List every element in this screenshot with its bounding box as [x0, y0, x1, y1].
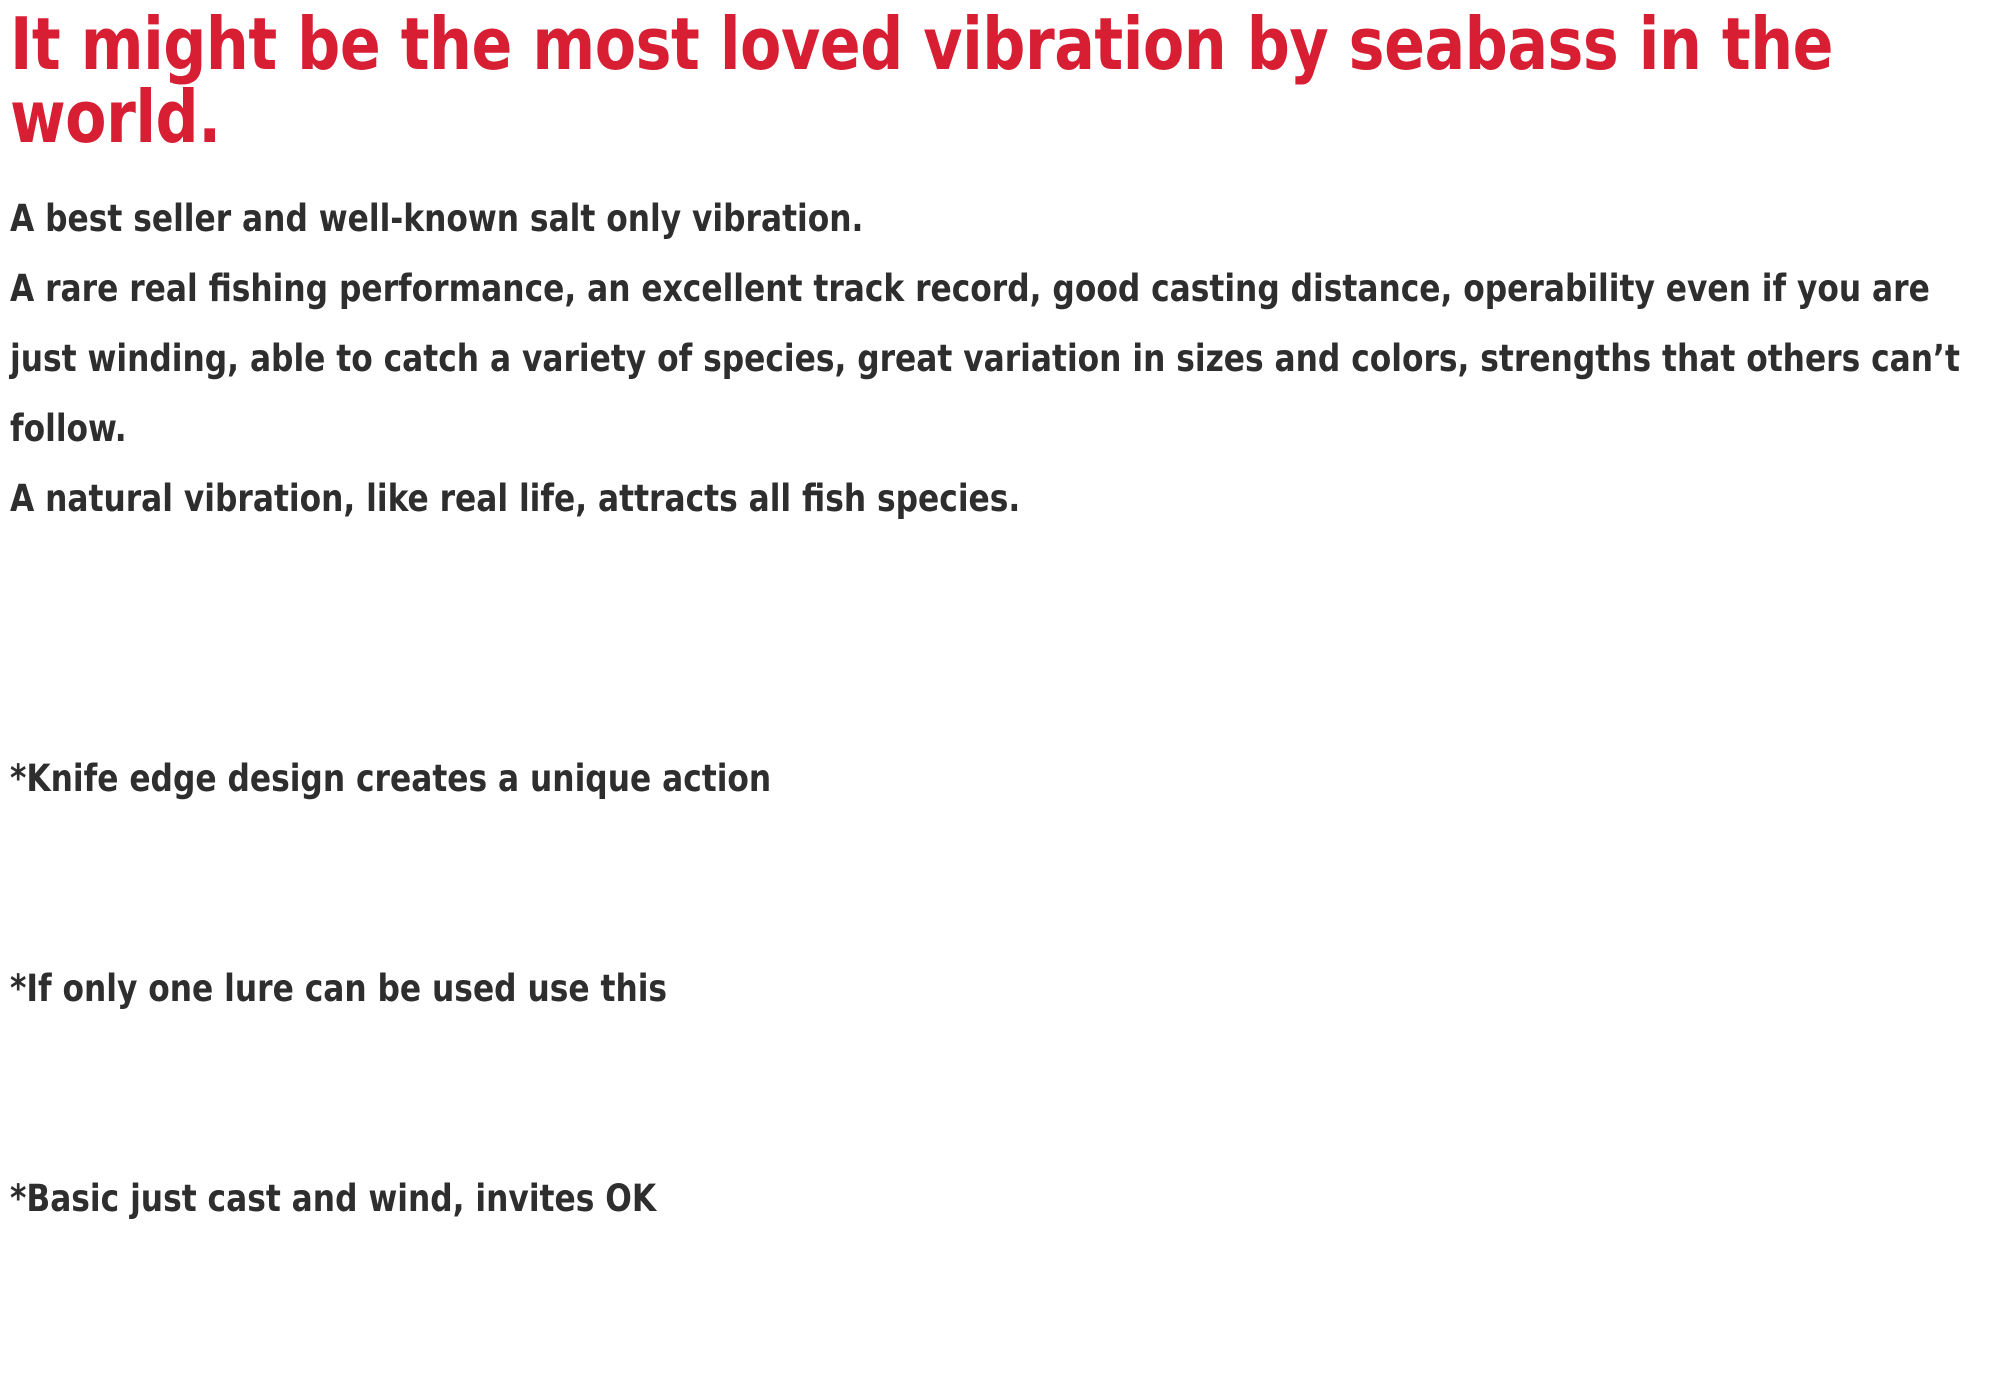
page-title: It might be the most loved vibration by … [10, 0, 2000, 154]
feature-bullet-item: *If only one lure can be used use this [10, 954, 2000, 1024]
paragraph-intro: A best seller and well-known salt only v… [10, 184, 2000, 254]
feature-bullet-item: *Knife edge design creates a unique acti… [10, 744, 2000, 814]
paragraph-natural: A natural vibration, like real life, att… [10, 464, 2000, 534]
feature-bullet-list: *Knife edge design creates a unique acti… [10, 604, 2000, 1374]
feature-bullet-item: *Basic just cast and wind, invites OK [10, 1164, 2000, 1234]
paragraph-detail: A rare real fishing performance, an exce… [10, 254, 2000, 464]
product-description-page: It might be the most loved vibration by … [0, 0, 2000, 865]
